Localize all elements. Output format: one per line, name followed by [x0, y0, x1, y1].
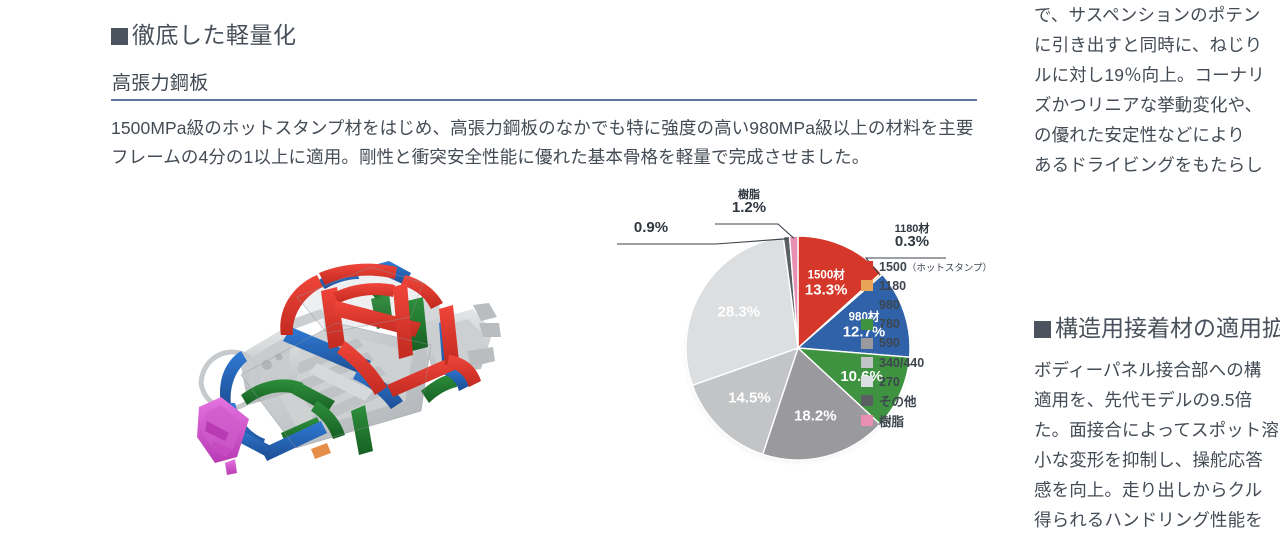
pie-label-pct-s1500: 13.3% — [805, 282, 848, 299]
right-paragraph-1-line-1: で、サスペンションのポテン — [1034, 0, 1280, 30]
legend-item-4[interactable]: 590 — [861, 334, 991, 353]
legend-label: その他 — [879, 391, 917, 410]
pie-label-name-s1500: 1500材 — [808, 268, 846, 282]
right-paragraph-1-line-5: の優れた安定性などにより — [1034, 120, 1280, 150]
page-title: 徹底した軽量化 — [111, 20, 297, 50]
legend-label: 340/440 — [879, 356, 924, 370]
legend-item-8[interactable]: 樹脂 — [861, 411, 991, 430]
frame-magenta-member — [197, 397, 249, 475]
pie-label-pct-s590: 18.2% — [794, 407, 837, 424]
legend-swatch-icon — [861, 395, 873, 406]
right-paragraph-2-line-1: ボディーパネル接合部への構 — [1034, 355, 1280, 385]
square-bullet-icon — [111, 28, 128, 45]
legend-swatch-icon — [861, 338, 873, 349]
legend-swatch-icon — [861, 357, 873, 368]
legend-swatch-icon — [861, 376, 873, 387]
main-content-column: 徹底した軽量化 高張力鋼板 1500MPa級のホットスタンプ材をはじめ、高張力鋼… — [111, 0, 991, 548]
legend-swatch-icon — [861, 261, 873, 272]
legend-label: 270 — [879, 375, 900, 389]
legend-label: 780 — [879, 317, 900, 331]
subsection-title: 高張力鋼板 — [112, 72, 209, 96]
legend-item-3[interactable]: 780 — [861, 315, 991, 334]
right-paragraph-2: ボディーパネル接合部への構適用を、先代モデルの9.5倍た。面接合によってスポット… — [1034, 355, 1280, 535]
right-section-title-text: 構造用接着材の適用拡 — [1055, 315, 1280, 341]
right-paragraph-1-line-4: ズかつリニアな挙動変化や、 — [1034, 90, 1280, 120]
legend-swatch-icon — [861, 280, 873, 291]
legend-label: 樹脂 — [879, 411, 904, 430]
legend-item-0[interactable]: 1500（ホットスタンプ） — [861, 257, 991, 276]
body-paragraph: 1500MPa級のホットスタンプ材をはじめ、高張力鋼板のなかでも特に強度の高い9… — [111, 114, 979, 172]
pie-callout-pct-sother: 0.9% — [634, 219, 668, 236]
leader-line-sresin — [715, 224, 794, 238]
legend-item-1[interactable]: 1180 — [861, 276, 991, 295]
pie-label-pct-s270: 28.3% — [718, 304, 761, 321]
legend-label-suffix: （ホットスタンプ） — [907, 263, 992, 274]
right-text-column: で、サスペンションのポテンに引き出すと同時に、ねじりルに対し19％向上。コーナリ… — [1034, 0, 1280, 548]
pie-legend: 1500（ホットスタンプ）1180980780590340/440270その他樹… — [861, 257, 991, 430]
right-paragraph-2-line-6: 得られるハンドリング性能を — [1034, 505, 1280, 535]
right-paragraph-1-line-3: ルに対し19％向上。コーナリ — [1034, 60, 1280, 90]
square-bullet-icon — [1034, 321, 1051, 338]
frame-orange-member — [311, 443, 331, 459]
legend-label: 590 — [879, 336, 900, 350]
right-paragraph-1-line-6: あるドライビングをもたらし — [1034, 150, 1280, 180]
legend-swatch-icon — [861, 319, 873, 330]
body-line-1: 1500MPa級のホットスタンプ材をはじめ、高張力鋼板のなかでも特に強度の高い9… — [111, 118, 921, 138]
pie-label-pct-s340: 14.5% — [728, 390, 771, 407]
pie-callout-pct-sresin: 1.2% — [732, 199, 766, 216]
legend-item-7[interactable]: その他 — [861, 391, 991, 410]
right-paragraph-2-line-4: 小な変形を抑制し、操舵応答 — [1034, 445, 1280, 475]
right-paragraph-1-line-2: に引き出すと同時に、ねじり — [1034, 30, 1280, 60]
pie-callout-pct-s1180: 0.3% — [895, 233, 929, 250]
right-paragraph-1: で、サスペンションのポテンに引き出すと同時に、ねじりルに対し19％向上。コーナリ… — [1034, 0, 1280, 180]
page-title-text: 徹底した軽量化 — [132, 22, 297, 48]
legend-label: 980 — [879, 298, 900, 312]
title-divider — [111, 99, 977, 101]
legend-item-5[interactable]: 340/440 — [861, 353, 991, 372]
car-body-frame-illustration — [121, 205, 531, 495]
right-paragraph-2-line-5: 感を向上。走り出しからクル — [1034, 475, 1280, 505]
legend-swatch-icon — [861, 299, 873, 310]
legend-item-6[interactable]: 270 — [861, 372, 991, 391]
right-paragraph-2-line-2: 適用を、先代モデルの9.5倍 — [1034, 385, 1280, 415]
right-section-title: 構造用接着材の適用拡 — [1034, 313, 1280, 343]
legend-item-2[interactable]: 980 — [861, 295, 991, 314]
right-paragraph-2-line-3: た。面接合によってスポット溶 — [1034, 415, 1280, 445]
legend-label: 1500（ホットスタンプ） — [879, 260, 992, 274]
legend-swatch-icon — [861, 415, 873, 426]
legend-label: 1180 — [879, 279, 906, 293]
